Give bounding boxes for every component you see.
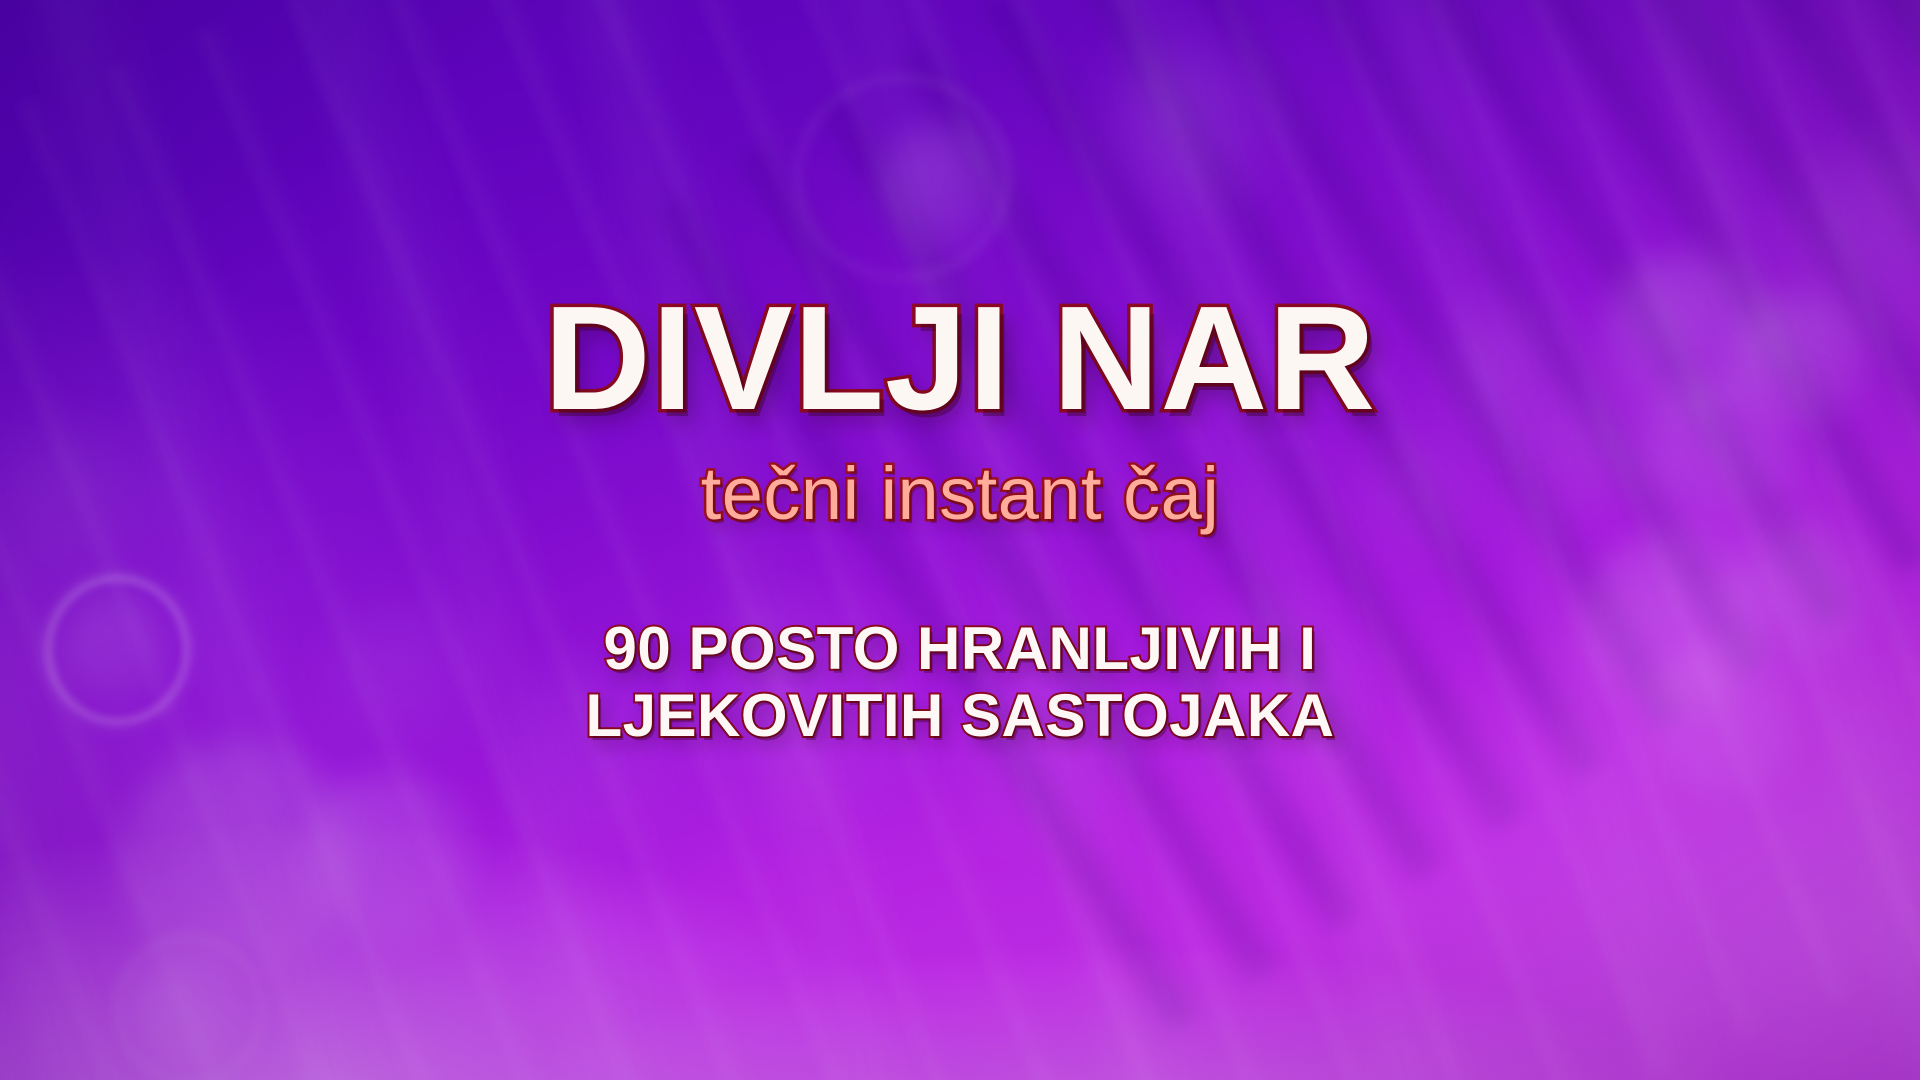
tagline-line-2: LJEKOVITIH SASTOJAKA [585,682,1334,749]
slide-canvas: DIVLJI NAR tečni instant čaj 90 POSTO HR… [0,0,1920,1080]
product-subtitle: tečni instant čaj [701,457,1220,531]
tagline-line-1: 90 POSTO HRANLJIVIH I [585,615,1334,682]
slide-content: DIVLJI NAR tečni instant čaj 90 POSTO HR… [0,0,1920,1080]
product-tagline: 90 POSTO HRANLJIVIH I LJEKOVITIH SASTOJA… [585,615,1334,749]
product-title: DIVLJI NAR [544,285,1376,433]
